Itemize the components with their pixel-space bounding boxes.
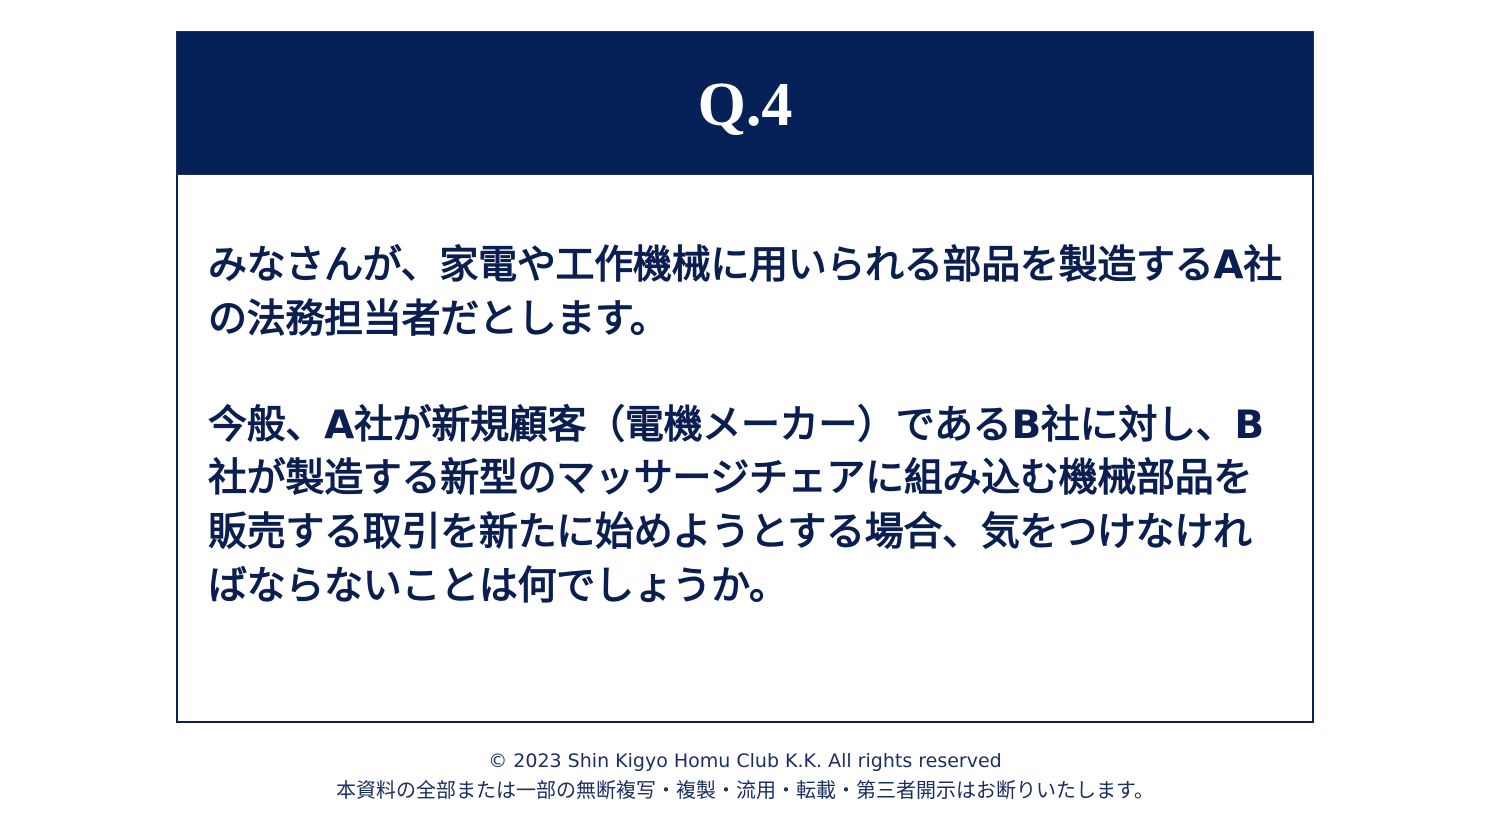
- page-title: Q.4: [698, 74, 793, 136]
- footer-notice: 本資料の全部または一部の無断複写・複製・流用・転載・第三者開示はお断りいたします…: [0, 776, 1490, 805]
- footer: © 2023 Shin Kigyo Homu Club K.K. All rig…: [0, 748, 1490, 805]
- slide-body: みなさんが、家電や工作機械に用いられる部品を製造するA社の法務担当者だとします。…: [176, 175, 1314, 723]
- paragraph-spacer: [208, 347, 1282, 399]
- question-paragraph-2: 今般、A社が新規顧客（電機メーカー）であるB社に対し、B社が製造する新型のマッサ…: [208, 399, 1282, 614]
- question-paragraph-1: みなさんが、家電や工作機械に用いられる部品を製造するA社の法務担当者だとします。: [208, 239, 1282, 347]
- slide-header-bar: Q.4: [176, 31, 1314, 175]
- footer-copyright: © 2023 Shin Kigyo Homu Club K.K. All rig…: [0, 748, 1490, 776]
- slide: Q.4 みなさんが、家電や工作機械に用いられる部品を製造するA社の法務担当者だと…: [176, 31, 1314, 723]
